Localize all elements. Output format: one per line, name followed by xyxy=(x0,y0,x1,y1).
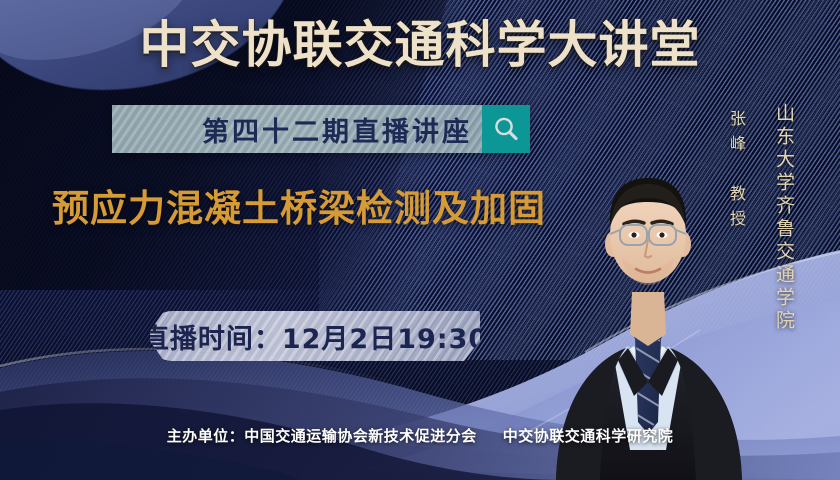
organizer-org-1: 中国交通运输协会新技术促进分会 xyxy=(244,427,477,445)
organizer-org-2: 中交协联交通科学研究院 xyxy=(503,427,674,445)
broadcast-time-text: 直播时间：12月2日19:30 xyxy=(150,317,480,356)
speaker-name-and-title: 张峰 教授 xyxy=(724,110,748,235)
speaker-affiliation: 山东大学齐鲁交通学院 xyxy=(771,103,798,333)
broadcast-time-badge: 直播时间：12月2日19:30 xyxy=(150,311,480,361)
lecture-topic-title: 预应力混凝土桥梁检测及加固 xyxy=(52,187,546,231)
page-title: 中交协联交通科学大讲堂 xyxy=(0,17,840,73)
search-icon-tile[interactable] xyxy=(482,105,530,153)
episode-banner-fill: 第四十二期直播讲座 xyxy=(112,105,482,153)
episode-banner: 第四十二期直播讲座 xyxy=(112,105,530,153)
poster-canvas: 中交协联交通科学大讲堂 第四十二期直播讲座 预应力混凝土桥梁检测及加固 直播时间… xyxy=(0,0,840,480)
organizer-footer: 主办单位：中国交通运输协会新技术促进分会中交协联交通科学研究院 xyxy=(0,425,840,446)
search-icon xyxy=(491,114,521,144)
organizer-prefix: 主办单位： xyxy=(167,427,245,445)
episode-label: 第四十二期直播讲座 xyxy=(202,110,472,149)
